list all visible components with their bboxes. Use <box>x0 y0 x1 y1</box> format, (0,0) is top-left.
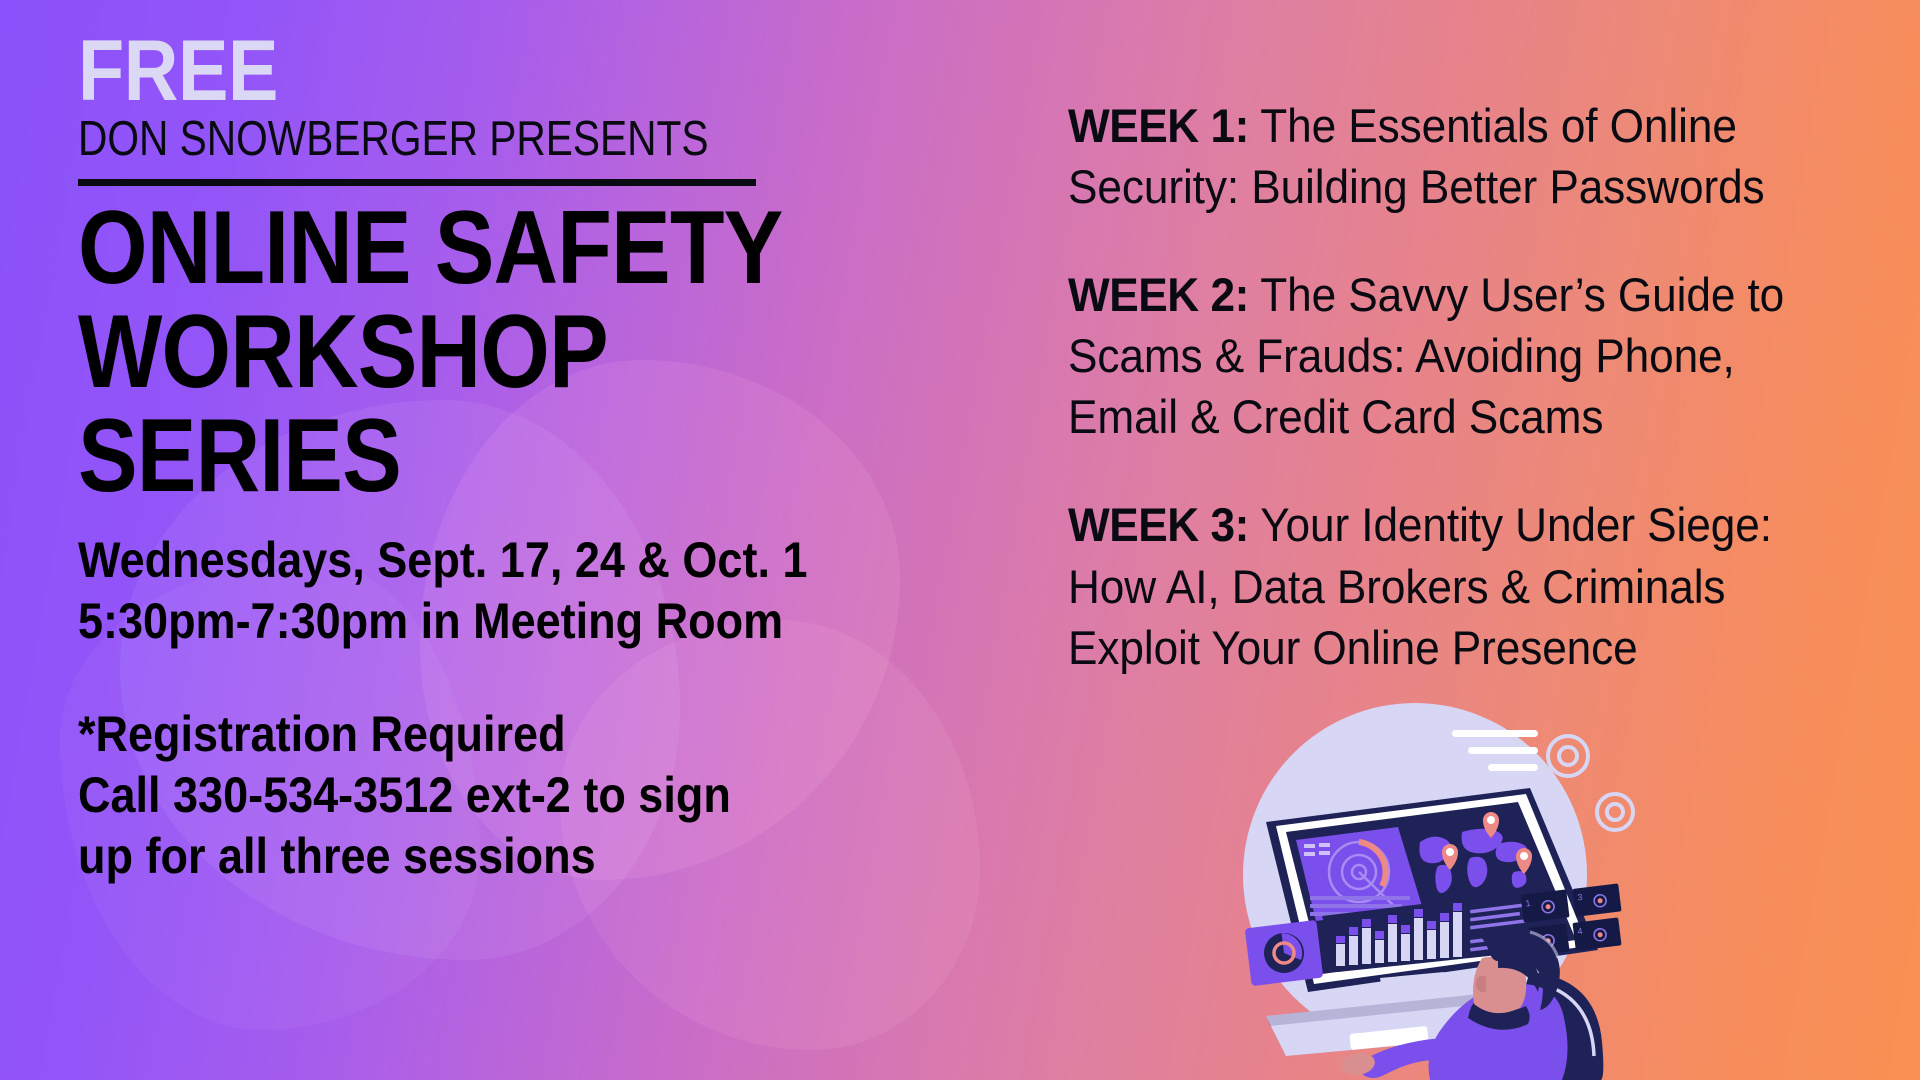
poster-canvas: FREE DON SNOWBERGER PRESENTS ONLINE SAFE… <box>0 0 1920 1080</box>
title-line-3: SERIES <box>78 404 766 508</box>
registration-required-note: *Registration Required <box>78 704 798 765</box>
title-line-2: WORKSHOP <box>78 300 766 404</box>
registration-phone-line: Call 330-534-3512 ext-2 to sign <box>78 765 798 826</box>
session-item-week-3: WEEK 3: Your Identity Under Siege: How A… <box>1068 494 1829 677</box>
page-title: ONLINE SAFETY WORKSHOP SERIES <box>78 196 766 508</box>
session-item-week-2: WEEK 2: The Savvy User’s Guide to Scams … <box>1068 264 1829 447</box>
free-badge: FREE <box>78 30 782 113</box>
session-list: WEEK 1: The Essentials of Online Securit… <box>1068 48 1878 678</box>
schedule-dates: Wednesdays, Sept. 17, 24 & Oct. 1 <box>78 530 798 591</box>
presenter-line: DON SNOWBERGER PRESENTS <box>78 115 742 165</box>
registration-block: *Registration Required Call 330-534-3512… <box>78 704 798 887</box>
divider-rule <box>78 179 756 186</box>
session-label-week-3: WEEK 3: <box>1068 498 1249 551</box>
session-label-week-1: WEEK 1: <box>1068 99 1249 152</box>
schedule-time-location: 5:30pm-7:30pm in Meeting Room <box>78 591 798 652</box>
schedule-block: Wednesdays, Sept. 17, 24 & Oct. 1 5:30pm… <box>78 530 798 652</box>
session-item-week-1: WEEK 1: The Essentials of Online Securit… <box>1068 95 1829 217</box>
registration-signup-line: up for all three sessions <box>78 826 798 887</box>
session-label-week-2: WEEK 2: <box>1068 268 1249 321</box>
title-line-1: ONLINE SAFETY <box>78 196 766 300</box>
headline-column: FREE DON SNOWBERGER PRESENTS ONLINE SAFE… <box>78 30 878 887</box>
person-at-security-dashboard-illustration: 1 2 3 4 <box>1230 700 1700 1080</box>
